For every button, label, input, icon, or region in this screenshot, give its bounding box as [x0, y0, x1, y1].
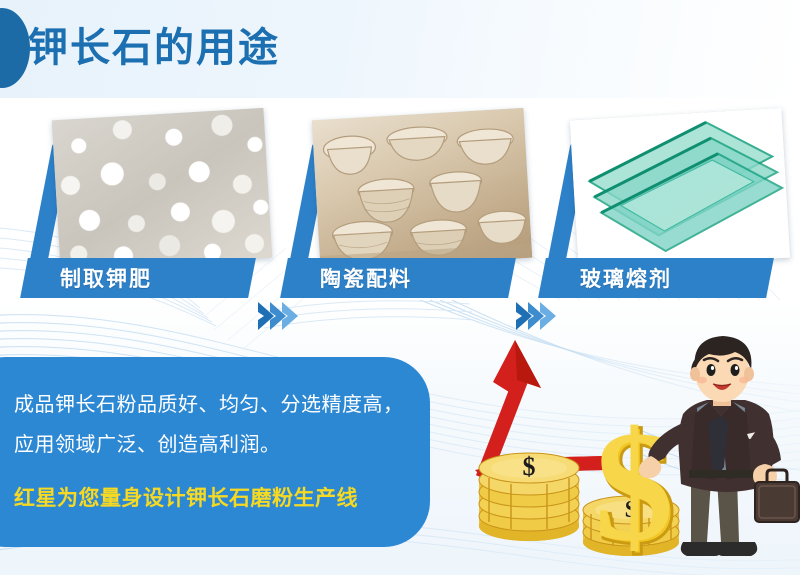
card-label-text: 陶瓷配料	[320, 260, 520, 296]
svg-text:$: $	[595, 399, 674, 574]
card-photo-glass-panels	[570, 108, 791, 270]
usage-flow-row: 制取钾肥	[0, 108, 800, 308]
infographic-canvas: 钾长石的用途 制取钾肥	[0, 0, 800, 575]
info-highlight-text: 红星为您量身设计钾长石磨粉生产线	[14, 483, 434, 515]
info-body-text: 成品钾长石粉品质好、均匀、分选精度高，应用领域广泛、创造高利润。	[14, 385, 414, 465]
usage-card-ceramic-ingredient[interactable]: 陶瓷配料	[290, 108, 545, 308]
businessman-illustration: $ $ $ $	[455, 330, 800, 575]
coin-dollar-glyph: $	[523, 452, 536, 481]
card-label-text: 制取钾肥	[60, 260, 260, 296]
usage-card-potash-fertilizer[interactable]: 制取钾肥	[30, 108, 285, 308]
page-title: 钾长石的用途	[28, 18, 280, 78]
usage-card-glass-flux[interactable]: 玻璃熔剂	[548, 108, 800, 308]
card-label-text: 玻璃熔剂	[580, 260, 780, 296]
dollar-sign-icon: $ $	[595, 399, 677, 575]
card-photo-potash-granules	[52, 108, 273, 270]
card-photo-ceramic-pottery	[312, 108, 533, 270]
coin-stack-left: $	[479, 452, 579, 541]
